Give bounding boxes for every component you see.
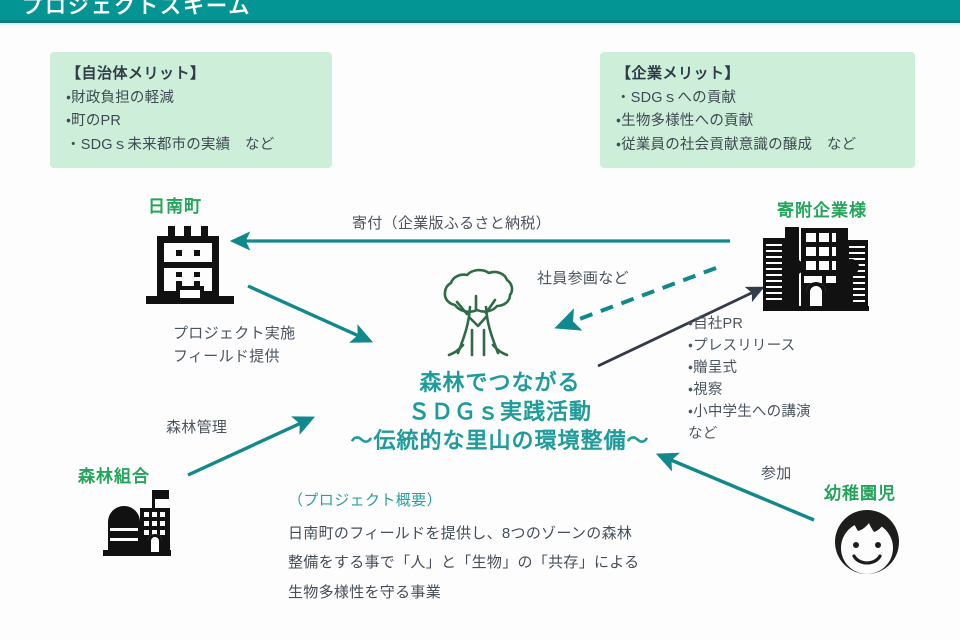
slide-canvas: プロジェクトスキーム 【自治体メリット】 ・財政負担の軽減 ・町のPR ・SDG… [0, 0, 960, 640]
caption-project-field-line1: プロジェクト実施 [173, 323, 295, 346]
tree-icon [445, 270, 512, 355]
overview-line: 整備をする事で「人」と「生物」の「共存」による [288, 548, 708, 577]
city-hall-icon [146, 226, 234, 304]
node-label-forest-coop: 森林組合 [78, 462, 150, 487]
child-face-icon [835, 510, 899, 574]
company-benefit-item: など [688, 423, 811, 445]
center-title: 森林でつながる ＳＤＧｓ実践活動 ～伝統的な里山の環境整備～ [330, 368, 670, 455]
center-title-line3: ～伝統的な里山の環境整備～ [330, 426, 670, 455]
caption-project-field: プロジェクト実施 フィールド提供 [173, 323, 295, 368]
center-title-line1: 森林でつながる [330, 368, 670, 397]
project-overview: （プロジェクト概要） 日南町のフィールドを提供し、8つのゾーンの森林 整備をする… [288, 489, 708, 607]
factory-building-icon [103, 490, 171, 556]
company-benefit-item: ・小中学生への講演 [688, 401, 811, 423]
node-label-company: 寄附企業様 [777, 196, 867, 221]
company-benefit-item: ・プレスリリース [688, 335, 811, 357]
caption-donation: 寄付（企業版ふるさと納税） [352, 213, 551, 236]
node-label-nichinan: 日南町 [148, 192, 202, 217]
caption-forest-management: 森林管理 [166, 417, 227, 440]
overview-line: 生物多様性を守る事業 [288, 578, 708, 607]
node-label-kindergarten: 幼稚園児 [824, 479, 896, 504]
company-benefit-item: ・視察 [688, 379, 811, 401]
caption-staff-participation: 社員参画など [537, 268, 629, 291]
company-benefit-list: ・自社PR ・プレスリリース ・贈呈式 ・視察 ・小中学生への講演 など [688, 313, 811, 445]
company-benefit-item: ・贈呈式 [688, 357, 811, 379]
caption-project-field-line2: フィールド提供 [173, 346, 295, 369]
company-benefit-item: ・自社PR [688, 313, 811, 335]
city-buildings-icon [763, 227, 869, 311]
overview-line: 日南町のフィールドを提供し、8つのゾーンの森林 [288, 519, 708, 548]
overview-heading: （プロジェクト概要） [288, 489, 708, 510]
caption-participation: 参加 [761, 463, 792, 486]
center-title-line2: ＳＤＧｓ実践活動 [330, 397, 670, 426]
